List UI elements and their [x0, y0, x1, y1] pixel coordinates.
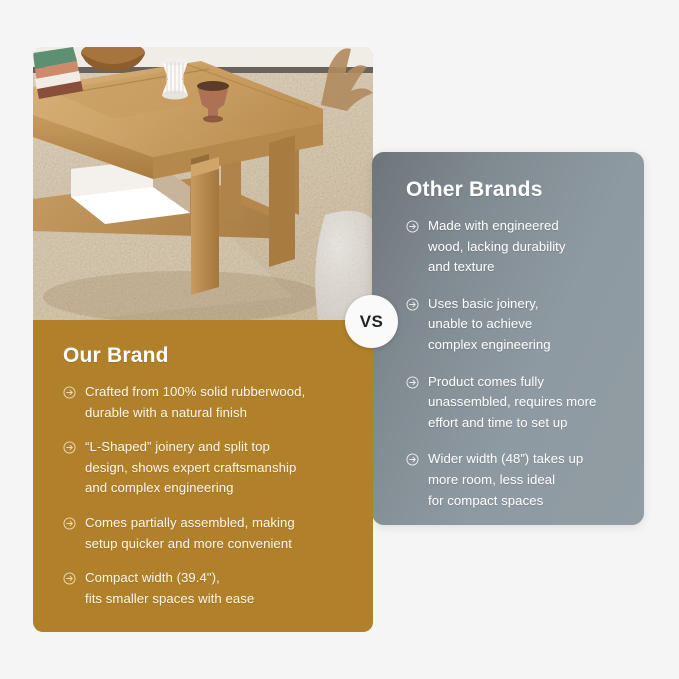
product-photo — [33, 47, 373, 325]
list-item: “L-Shaped” joinery and split top design,… — [63, 437, 351, 499]
our-brand-card: Our Brand Crafted from 100% solid rubber… — [33, 320, 373, 632]
list-item-text: Made with engineered wood, lacking durab… — [428, 216, 622, 278]
product-photo-illustration — [33, 47, 373, 325]
circle-arrow-right-icon — [63, 386, 76, 399]
other-brands-title: Other Brands — [406, 178, 622, 202]
other-brands-card: Other Brands Made with engineered wood, … — [372, 152, 644, 525]
list-item: Made with engineered wood, lacking durab… — [406, 216, 622, 278]
list-item-text: Uses basic joinery, unable to achieve co… — [428, 294, 622, 356]
comparison-infographic: Other Brands Made with engineered wood, … — [0, 0, 679, 679]
list-item: Product comes fully unassembled, require… — [406, 372, 622, 434]
circle-arrow-right-icon — [63, 572, 76, 585]
circle-arrow-right-icon — [63, 517, 76, 530]
circle-arrow-right-icon — [406, 453, 419, 466]
list-item: Wider width (48”) takes up more room, le… — [406, 449, 622, 511]
list-item-text: “L-Shaped” joinery and split top design,… — [85, 437, 351, 499]
list-item: Crafted from 100% solid rubberwood, dura… — [63, 382, 351, 423]
vs-badge-label: VS — [360, 312, 383, 332]
list-item-text: Product comes fully unassembled, require… — [428, 372, 622, 434]
list-item-text: Comes partially assembled, making setup … — [85, 513, 351, 554]
list-item: Comes partially assembled, making setup … — [63, 513, 351, 554]
our-brand-list: Crafted from 100% solid rubberwood, dura… — [63, 382, 351, 609]
our-brand-title: Our Brand — [63, 344, 351, 368]
list-item: Compact width (39.4"), fits smaller spac… — [63, 568, 351, 609]
circle-arrow-right-icon — [406, 220, 419, 233]
list-item: Uses basic joinery, unable to achieve co… — [406, 294, 622, 356]
list-item-text: Wider width (48”) takes up more room, le… — [428, 449, 622, 511]
list-item-text: Crafted from 100% solid rubberwood, dura… — [85, 382, 351, 423]
circle-arrow-right-icon — [406, 376, 419, 389]
circle-arrow-right-icon — [63, 441, 76, 454]
other-brands-list: Made with engineered wood, lacking durab… — [406, 216, 622, 511]
circle-arrow-right-icon — [406, 298, 419, 311]
vs-badge: VS — [345, 295, 398, 348]
list-item-text: Compact width (39.4"), fits smaller spac… — [85, 568, 351, 609]
